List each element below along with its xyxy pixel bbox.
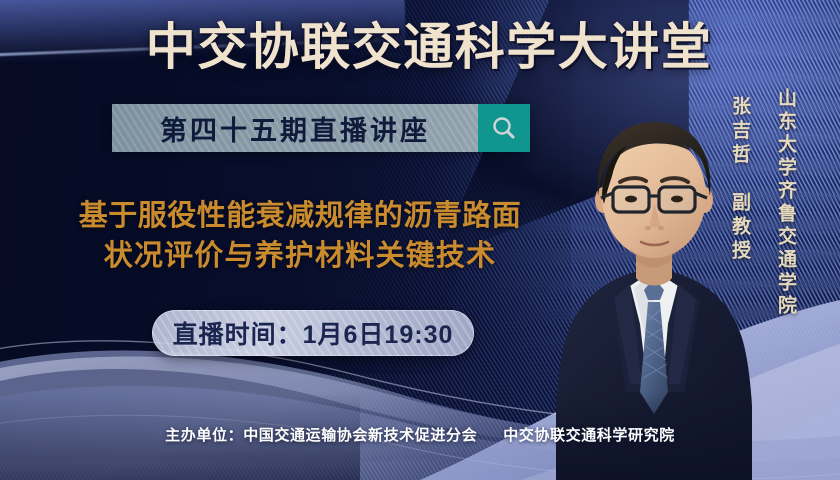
footer-label: 主办单位：	[165, 427, 243, 444]
footer-organizer-2: 中交协联交通科学研究院	[503, 427, 675, 444]
speaker-affiliation: 山东大学齐鲁交通学院	[772, 88, 799, 318]
footer-organizers: 主办单位：中国交通运输协会新技术促进分会中交协联交通科学研究院	[0, 424, 840, 445]
search-icon[interactable]	[478, 104, 530, 152]
live-time-badge: 直播时间：1月6日19:30	[152, 310, 474, 356]
lecture-topic-line2: 状况评价与养护材料关键技术	[18, 236, 582, 276]
episode-banner: 第四十五期直播讲座	[112, 104, 530, 152]
footer-organizer-1: 中国交通运输协会新技术促进分会	[243, 427, 477, 444]
live-time-text: 直播时间：1月6日19:30	[173, 315, 454, 351]
lecture-topic: 基于服役性能衰减规律的沥青路面 状况评价与养护材料关键技术	[18, 196, 582, 276]
episode-banner-fill: 第四十五期直播讲座	[112, 104, 478, 152]
live-lecture-poster: 中交协联交通科学大讲堂 第四十五期直播讲座 基于服役性能衰减规律的沥青路面 状况…	[0, 0, 840, 480]
episode-label: 第四十五期直播讲座	[160, 109, 430, 148]
speaker-name-title: 张吉哲 副教授	[726, 96, 753, 264]
lecture-topic-line1: 基于服役性能衰减规律的沥青路面	[18, 196, 582, 236]
page-title: 中交协联交通科学大讲堂	[0, 18, 840, 76]
